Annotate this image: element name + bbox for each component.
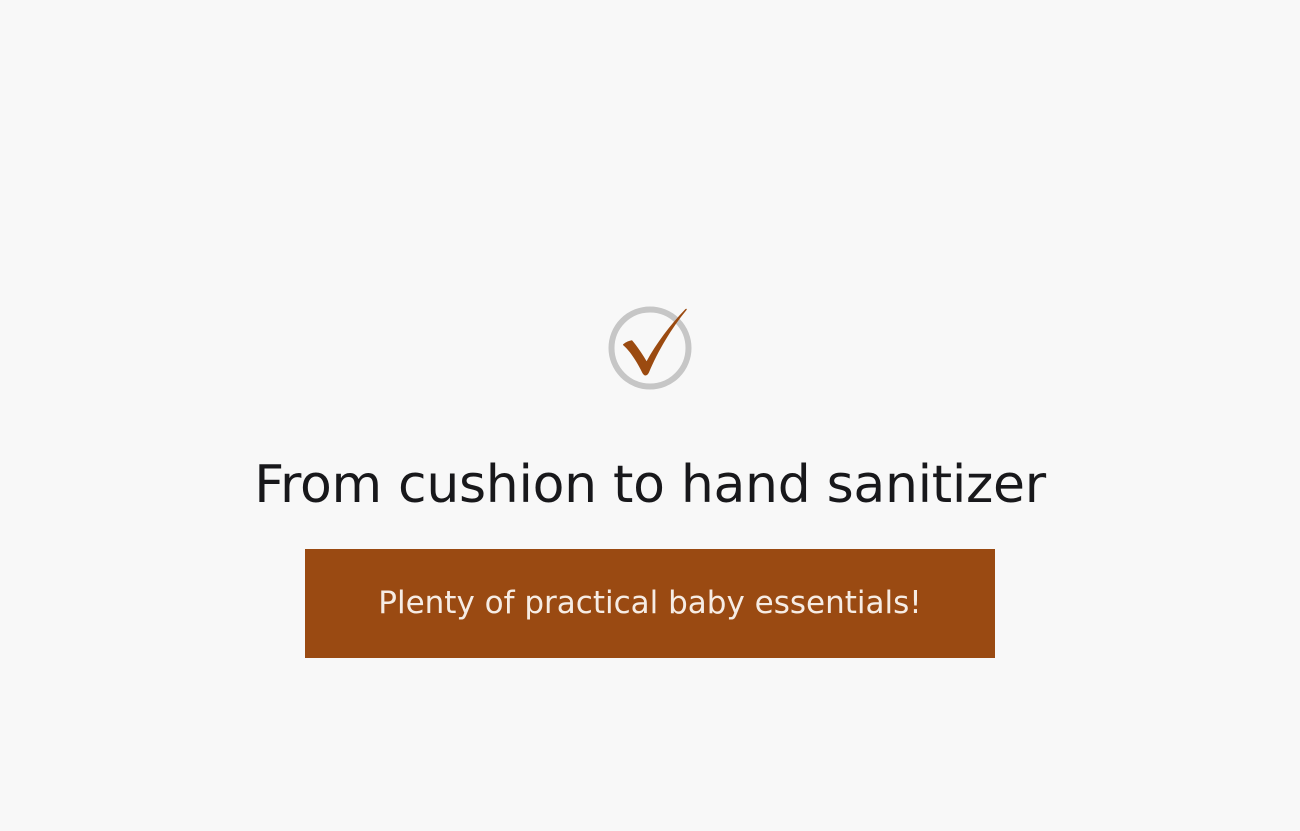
check-circle-icon xyxy=(598,296,702,400)
message-banner: Plenty of practical baby essentials! xyxy=(305,549,995,658)
check-mark xyxy=(623,309,687,376)
content-stack: From cushion to hand sanitizer Plenty of… xyxy=(0,0,1300,831)
status-icon-container xyxy=(598,296,702,400)
page-title: From cushion to hand sanitizer xyxy=(254,456,1046,516)
page-root: From cushion to hand sanitizer Plenty of… xyxy=(0,0,1300,831)
banner-message-text: Plenty of practical baby essentials! xyxy=(378,585,921,622)
